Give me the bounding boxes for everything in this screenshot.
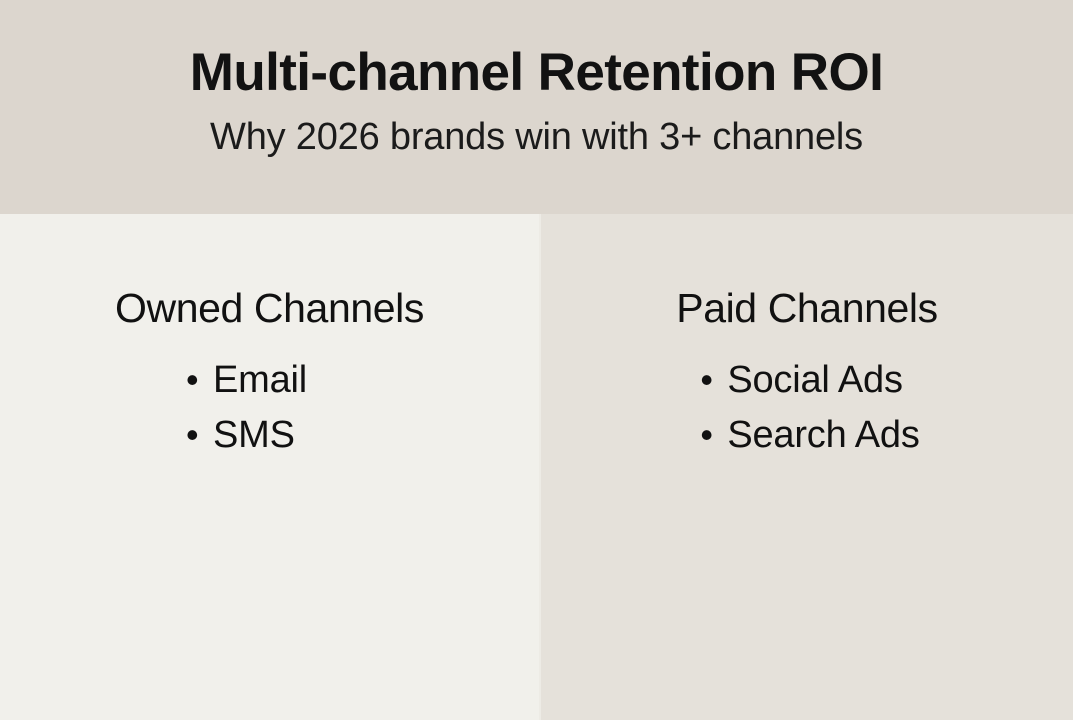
bullet-dot-icon: • [186, 352, 213, 407]
slide-header-band: Multi-channel Retention ROI Why 2026 bra… [0, 0, 1073, 214]
slide-subtitle: Why 2026 brands win with 3+ channels [210, 117, 863, 159]
list-item-label: Social Ads [727, 353, 902, 408]
bullet-dot-icon: • [186, 407, 213, 462]
list-item: • Social Ads [700, 352, 919, 407]
list-item: • Search Ads [700, 407, 919, 462]
list-item: • SMS [186, 407, 307, 462]
column-heading-paid: Paid Channels [676, 286, 937, 330]
bullet-dot-icon: • [700, 407, 727, 462]
column-heading-owned: Owned Channels [115, 286, 424, 330]
bullet-dot-icon: • [700, 352, 727, 407]
column-paid-channels: Paid Channels • Social Ads • Search Ads [541, 214, 1073, 720]
list-item-label: SMS [213, 408, 295, 463]
list-item-label: Email [213, 353, 307, 408]
slide-root: Multi-channel Retention ROI Why 2026 bra… [0, 0, 1073, 720]
list-item-label: Search Ads [727, 408, 919, 463]
list-item: • Email [186, 352, 307, 407]
slide-title: Multi-channel Retention ROI [190, 44, 883, 101]
column-owned-channels: Owned Channels • Email • SMS [0, 214, 539, 720]
two-column-body: Owned Channels • Email • SMS Paid Channe… [0, 214, 1073, 720]
bullet-list-owned: • Email • SMS [186, 352, 307, 462]
bullet-list-paid: • Social Ads • Search Ads [700, 352, 919, 462]
